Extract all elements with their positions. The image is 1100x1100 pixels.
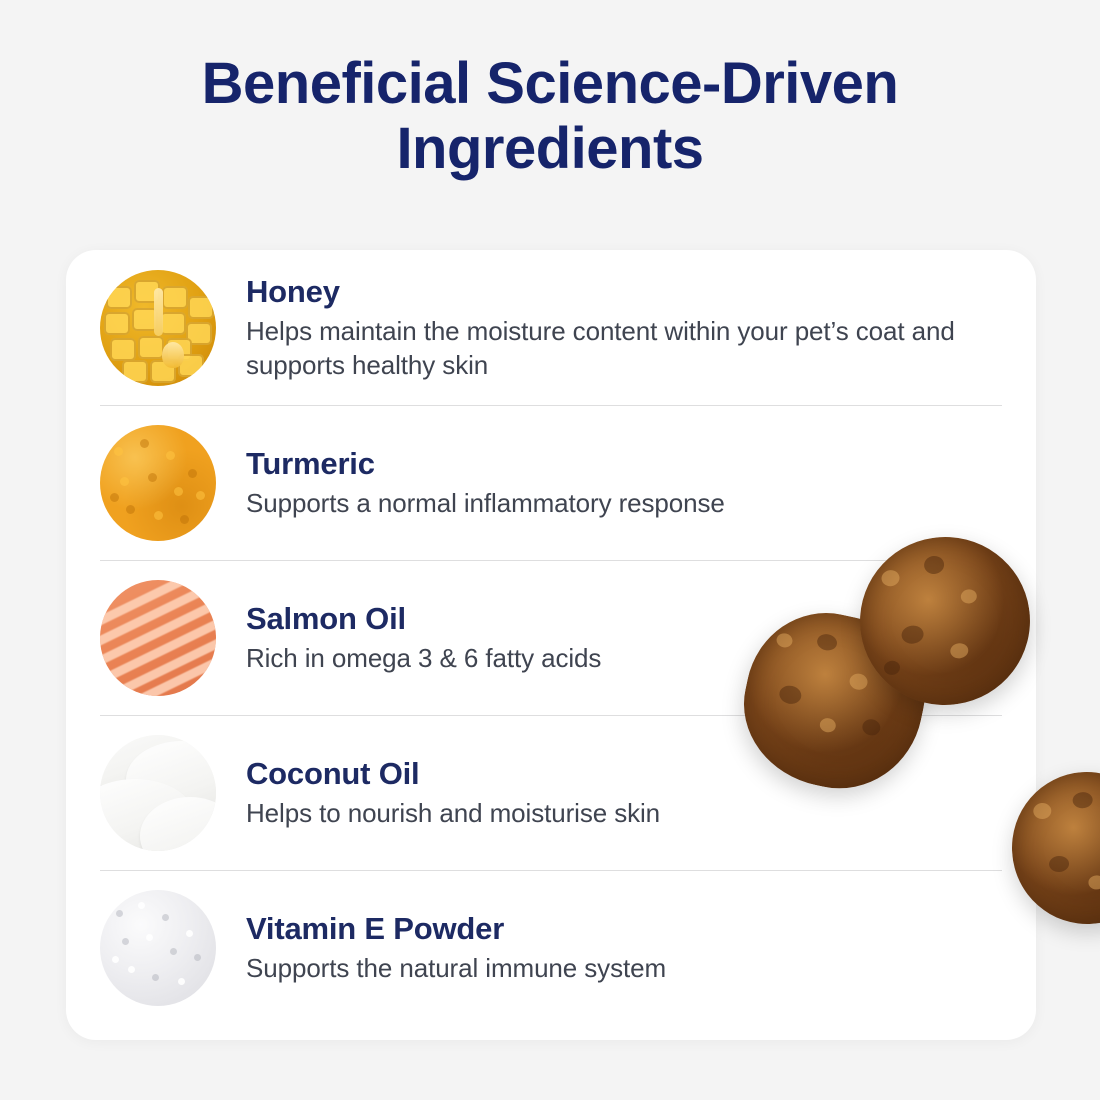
ingredient-name: Honey: [246, 273, 1002, 310]
ingredient-description: Helps to nourish and moisturise skin: [246, 796, 1002, 830]
ingredient-name: Vitamin E Powder: [246, 910, 1002, 947]
list-item: Vitamin E Powder Supports the natural im…: [66, 870, 1036, 1025]
ingredient-description: Supports a normal inflammatory response: [246, 486, 1002, 520]
ingredient-description: Helps maintain the moisture content with…: [246, 314, 1002, 383]
salmon-fillet-icon: [100, 580, 216, 696]
ingredient-name: Turmeric: [246, 445, 1002, 482]
page-title-line-1: Beneficial Science-Driven: [70, 52, 1030, 117]
ingredient-description: Supports the natural immune system: [246, 951, 1002, 985]
honeycomb-icon: [100, 270, 216, 386]
list-item-text: Turmeric Supports a normal inflammatory …: [246, 445, 1002, 521]
coconut-oil-icon: [100, 735, 216, 851]
list-item: Turmeric Supports a normal inflammatory …: [66, 405, 1036, 560]
turmeric-powder-icon: [100, 425, 216, 541]
page-title: Beneficial Science-Driven Ingredients: [70, 52, 1030, 182]
list-item-text: Honey Helps maintain the moisture conten…: [246, 273, 1002, 383]
list-item-text: Vitamin E Powder Supports the natural im…: [246, 910, 1002, 986]
list-item: Honey Helps maintain the moisture conten…: [66, 250, 1036, 405]
page-title-line-2: Ingredients: [70, 117, 1030, 182]
vitamin-e-powder-icon: [100, 890, 216, 1006]
